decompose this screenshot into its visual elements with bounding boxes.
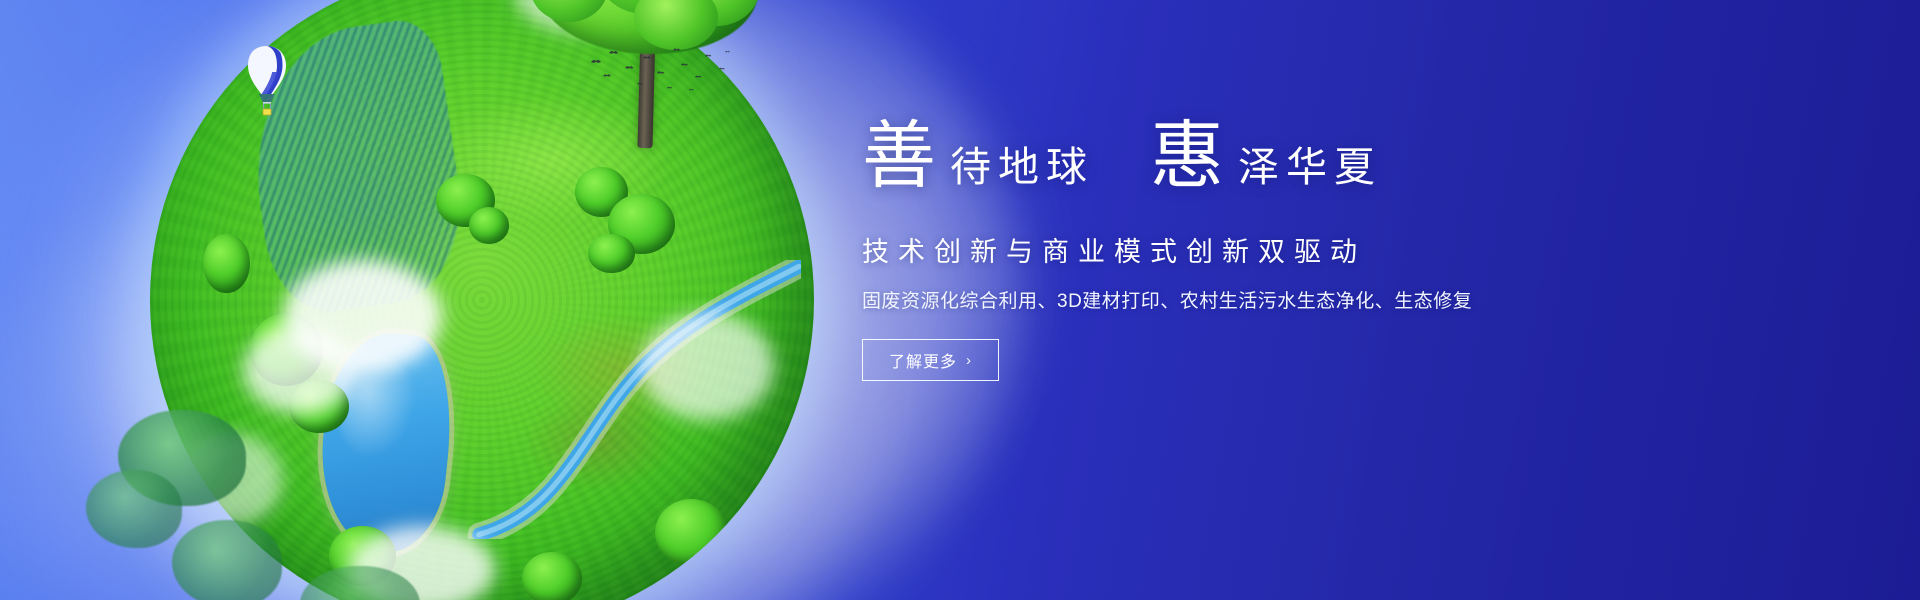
learn-more-label: 了解更多	[889, 348, 957, 372]
tree-silhouette	[86, 470, 182, 548]
headline-rest-2: 泽华夏	[1238, 147, 1382, 188]
page-title: 善 待地球 惠 泽华夏	[862, 120, 1622, 216]
hero-description: 固废资源化综合利用、3D建材打印、农村生活污水生态净化、生态修复	[862, 286, 1622, 313]
hero-copy-block: 善 待地球 惠 泽华夏 技术创新与商业模式创新双驱动 固废资源化综合利用、3D建…	[862, 120, 1622, 381]
hero-banner: 善 待地球 惠 泽华夏 技术创新与商业模式创新双驱动 固废资源化综合利用、3D建…	[0, 0, 1920, 600]
headline-lead-1: 善	[862, 120, 936, 194]
shrub-cluster	[203, 234, 249, 294]
hot-air-balloon-icon	[243, 44, 291, 118]
surface-cloud	[243, 327, 356, 413]
shrub-cluster	[588, 234, 634, 274]
tree-silhouette	[172, 520, 282, 600]
shrub-cluster	[522, 552, 582, 600]
shrub-cluster	[655, 499, 728, 565]
headline-rest-1: 待地球	[950, 147, 1094, 188]
bird-flock-icon	[585, 44, 735, 96]
surface-cloud	[641, 313, 774, 419]
shrub-cluster	[469, 207, 509, 244]
hero-subtitle: 技术创新与商业模式创新双驱动	[862, 230, 1622, 269]
headline-lead-2: 惠	[1150, 120, 1224, 194]
chevron-right-icon: ›	[966, 353, 972, 368]
learn-more-button[interactable]: 了解更多 ›	[862, 339, 999, 381]
